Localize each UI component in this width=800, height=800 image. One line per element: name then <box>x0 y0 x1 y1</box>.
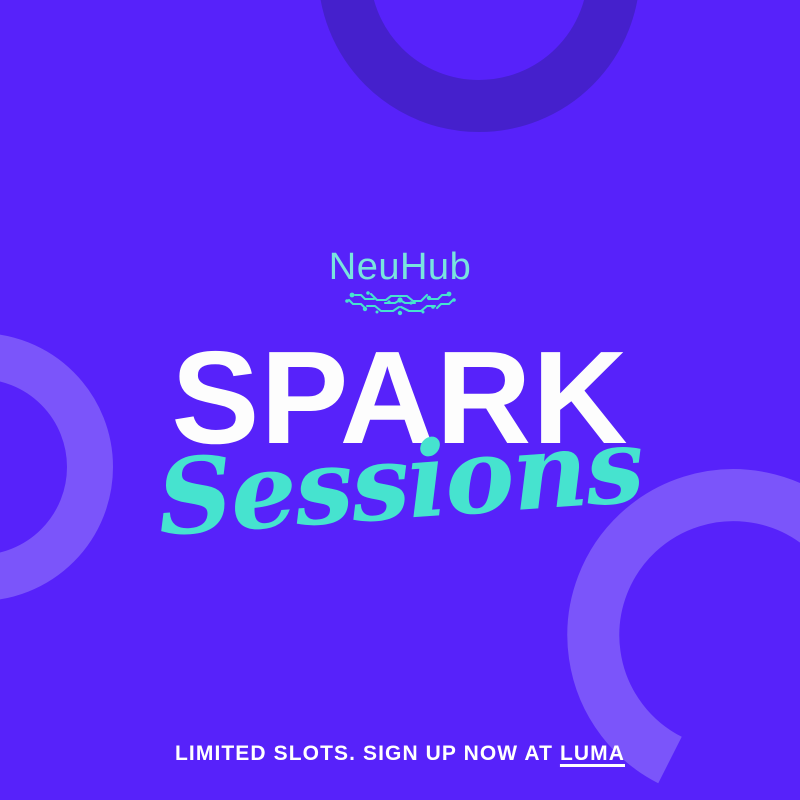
center-lockup: NeuHub <box>0 248 800 534</box>
circuit-trace-ornament-icon <box>341 290 459 316</box>
luma-link[interactable]: LUMA <box>560 742 625 765</box>
footer-cta-text: LIMITED SLOTS. SIGN UP NOW AT <box>175 742 560 765</box>
decorative-ring-top <box>318 0 640 132</box>
footer-cta: LIMITED SLOTS. SIGN UP NOW AT LUMA <box>0 742 800 766</box>
page-subtitle: Sessions <box>154 413 645 551</box>
poster-canvas: NeuHub <box>0 0 800 800</box>
brand-name: NeuHub <box>0 248 800 286</box>
